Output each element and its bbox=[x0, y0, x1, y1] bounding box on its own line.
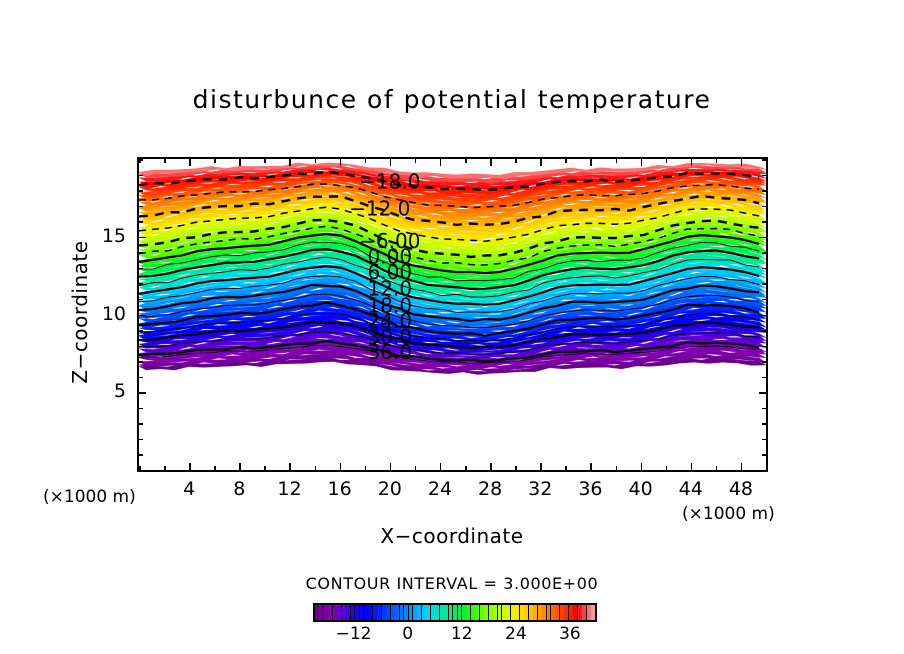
y-tick-6 bbox=[139, 377, 143, 379]
colorbar-cell bbox=[351, 605, 355, 620]
colorbar-cell bbox=[355, 605, 359, 620]
x-tick-top-46 bbox=[716, 159, 718, 163]
y-tick-15 bbox=[139, 237, 146, 239]
y-tick-right-7 bbox=[762, 361, 766, 363]
colorbar-cell bbox=[533, 605, 537, 620]
x-tick-top-20 bbox=[390, 159, 392, 166]
y-tick-right-10 bbox=[759, 315, 766, 317]
x-tick-36 bbox=[590, 463, 592, 470]
y-tick-3 bbox=[139, 423, 143, 425]
x-tick-label-32: 32 bbox=[520, 478, 560, 500]
colorbar-cell bbox=[560, 605, 564, 620]
x-tick-label-28: 28 bbox=[470, 478, 510, 500]
colorbar-tick-label-12: 12 bbox=[439, 624, 485, 644]
x-tick-20 bbox=[390, 463, 392, 470]
colorbar-cell bbox=[333, 605, 337, 620]
x-tick-14 bbox=[315, 466, 317, 470]
x-units-left-label: (×1000 m) bbox=[43, 487, 136, 507]
colorbar-cell bbox=[422, 605, 426, 620]
x-tick-top-36 bbox=[590, 159, 592, 166]
x-tick-top-2 bbox=[164, 159, 166, 163]
y-tick-right-14 bbox=[762, 252, 766, 254]
y-tick-14 bbox=[139, 252, 143, 254]
x-tick-42 bbox=[666, 466, 668, 470]
x-tick-18 bbox=[365, 466, 367, 470]
colorbar-cell bbox=[475, 605, 479, 620]
colorbar-cell bbox=[493, 605, 497, 620]
y-tick-right-2 bbox=[762, 439, 766, 441]
colorbar-cell bbox=[489, 605, 493, 620]
colorbar-cell bbox=[569, 605, 573, 620]
colorbar-cell bbox=[506, 605, 510, 620]
x-tick-top-42 bbox=[666, 159, 668, 163]
plot-area: −18.0−12.0−6.000.006.0012.018.024.030.03… bbox=[137, 157, 768, 472]
colorbar-cell bbox=[426, 605, 430, 620]
x-tick-top-16 bbox=[340, 159, 342, 166]
x-tick-top-50 bbox=[766, 159, 768, 163]
x-tick-46 bbox=[716, 466, 718, 470]
x-tick-top-32 bbox=[540, 159, 542, 166]
colorbar-cell bbox=[484, 605, 488, 620]
colorbar-cell bbox=[515, 605, 519, 620]
x-tick-32 bbox=[540, 463, 542, 470]
colorbar-cell bbox=[578, 605, 582, 620]
x-tick-top-44 bbox=[691, 159, 693, 166]
y-tick-right-19 bbox=[762, 175, 766, 177]
x-tick-2 bbox=[164, 466, 166, 470]
x-tick-24 bbox=[440, 463, 442, 470]
x-tick-label-4: 4 bbox=[169, 478, 209, 500]
colorbar-cell bbox=[524, 605, 528, 620]
colorbar-tick-label-24: 24 bbox=[493, 624, 539, 644]
x-tick-top-22 bbox=[415, 159, 417, 163]
colorbar-tick-label--12: −12 bbox=[331, 624, 377, 644]
y-tick-right-13 bbox=[762, 268, 766, 270]
y-tick-20 bbox=[139, 159, 143, 161]
colorbar-cell bbox=[360, 605, 364, 620]
colorbar-cell bbox=[542, 605, 546, 620]
x-tick-label-48: 48 bbox=[721, 478, 761, 500]
x-tick-16 bbox=[340, 463, 342, 470]
x-tick-34 bbox=[565, 466, 567, 470]
x-tick-44 bbox=[691, 463, 693, 470]
x-tick-label-40: 40 bbox=[621, 478, 661, 500]
y-tick-right-6 bbox=[762, 377, 766, 379]
x-tick-8 bbox=[239, 463, 241, 470]
y-tick-right-1 bbox=[762, 454, 766, 456]
colorbar-cell bbox=[391, 605, 395, 620]
x-tick-4 bbox=[189, 463, 191, 470]
colorbar-cell bbox=[555, 605, 559, 620]
y-tick-9 bbox=[139, 330, 143, 332]
x-tick-top-26 bbox=[465, 159, 467, 163]
x-tick-label-44: 44 bbox=[671, 478, 711, 500]
y-tick-12 bbox=[139, 283, 143, 285]
x-tick-top-28 bbox=[490, 159, 492, 166]
colorbar bbox=[313, 603, 597, 622]
colorbar-cell bbox=[449, 605, 453, 620]
colorbar-cell bbox=[404, 605, 408, 620]
y-tick-4 bbox=[139, 408, 143, 410]
colorbar-cell bbox=[529, 605, 533, 620]
colorbar-cell bbox=[328, 605, 332, 620]
x-tick-40 bbox=[641, 463, 643, 470]
x-tick-label-36: 36 bbox=[570, 478, 610, 500]
colorbar-cell bbox=[409, 605, 413, 620]
contour-interval-caption: CONTOUR INTERVAL = 3.000E+00 bbox=[0, 574, 904, 593]
colorbar-cell bbox=[466, 605, 470, 620]
y-tick-right-11 bbox=[762, 299, 766, 301]
x-axis-title: X−coordinate bbox=[0, 524, 904, 548]
y-tick-right-20 bbox=[762, 159, 766, 161]
colorbar-cell bbox=[520, 605, 524, 620]
x-tick-top-40 bbox=[641, 159, 643, 166]
x-tick-top-4 bbox=[189, 159, 191, 166]
colorbar-cell bbox=[547, 605, 551, 620]
colorbar-cell bbox=[435, 605, 439, 620]
colorbar-cell bbox=[346, 605, 350, 620]
x-tick-label-8: 8 bbox=[219, 478, 259, 500]
y-tick-19 bbox=[139, 175, 143, 177]
colorbar-cell bbox=[364, 605, 368, 620]
x-tick-30 bbox=[515, 466, 517, 470]
colorbar-tick-label-36: 36 bbox=[547, 624, 593, 644]
colorbar-cell bbox=[591, 605, 595, 620]
x-tick-top-12 bbox=[289, 159, 291, 166]
x-tick-38 bbox=[616, 466, 618, 470]
x-tick-label-24: 24 bbox=[420, 478, 460, 500]
y-tick-1 bbox=[139, 454, 143, 456]
y-tick-right-8 bbox=[762, 346, 766, 348]
colorbar-cell bbox=[498, 605, 502, 620]
colorbar-cell bbox=[564, 605, 568, 620]
colorbar-tick-label-0: 0 bbox=[385, 624, 431, 644]
colorbar-cell bbox=[458, 605, 462, 620]
x-tick-top-6 bbox=[214, 159, 216, 163]
colorbar-cell bbox=[373, 605, 377, 620]
page-title: disturbunce of potential temperature bbox=[0, 85, 904, 114]
colorbar-cell bbox=[315, 605, 319, 620]
colorbar-cell bbox=[342, 605, 346, 620]
y-tick-right-3 bbox=[762, 423, 766, 425]
x-tick-top-18 bbox=[365, 159, 367, 163]
x-tick-50 bbox=[766, 466, 768, 470]
colorbar-cell bbox=[551, 605, 555, 620]
colorbar-cell bbox=[377, 605, 381, 620]
y-tick-13 bbox=[139, 268, 143, 270]
x-tick-10 bbox=[264, 466, 266, 470]
colorbar-cell bbox=[453, 605, 457, 620]
y-tick-right-5 bbox=[759, 392, 766, 394]
y-tick-right-12 bbox=[762, 283, 766, 285]
contour-field: −18.0−12.0−6.000.006.0012.018.024.030.03… bbox=[139, 159, 766, 470]
y-tick-17 bbox=[139, 206, 143, 208]
contour-plot-svg: −18.0−12.0−6.000.006.0012.018.024.030.03… bbox=[139, 159, 766, 470]
x-tick-label-16: 16 bbox=[320, 478, 360, 500]
y-tick-right-18 bbox=[762, 190, 766, 192]
figure-canvas: disturbunce of potential temperature Z−c… bbox=[0, 0, 904, 654]
x-tick-top-10 bbox=[264, 159, 266, 163]
colorbar-cell bbox=[382, 605, 386, 620]
colorbar-cell bbox=[386, 605, 390, 620]
y-tick-right-9 bbox=[762, 330, 766, 332]
x-tick-top-8 bbox=[239, 159, 241, 166]
contour-label: −12.0 bbox=[349, 197, 410, 221]
colorbar-cell bbox=[337, 605, 341, 620]
colorbar-cell bbox=[502, 605, 506, 620]
y-tick-16 bbox=[139, 221, 143, 223]
colorbar-cell bbox=[395, 605, 399, 620]
x-tick-label-20: 20 bbox=[370, 478, 410, 500]
contour-label: 36.0 bbox=[368, 340, 413, 364]
x-tick-48 bbox=[741, 463, 743, 470]
y-tick-label-15: 15 bbox=[84, 225, 126, 247]
colorbar-cell bbox=[587, 605, 591, 620]
y-tick-0 bbox=[139, 470, 143, 472]
y-tick-right-4 bbox=[762, 408, 766, 410]
y-tick-right-15 bbox=[759, 237, 766, 239]
colorbar-cell bbox=[582, 605, 586, 620]
x-tick-26 bbox=[465, 466, 467, 470]
x-tick-label-12: 12 bbox=[269, 478, 309, 500]
colorbar-cell bbox=[368, 605, 372, 620]
colorbar-cell bbox=[431, 605, 435, 620]
y-tick-label-5: 5 bbox=[84, 380, 126, 402]
contour-label: −18.0 bbox=[359, 169, 420, 193]
colorbar-cell bbox=[462, 605, 466, 620]
colorbar-cell bbox=[319, 605, 323, 620]
x-tick-22 bbox=[415, 466, 417, 470]
y-tick-right-16 bbox=[762, 221, 766, 223]
colorbar-cell bbox=[511, 605, 515, 620]
colorbar-tick-labels: −120122436 bbox=[313, 624, 597, 648]
colorbar-cell bbox=[440, 605, 444, 620]
y-tick-7 bbox=[139, 361, 143, 363]
x-tick-top-48 bbox=[741, 159, 743, 166]
y-tick-right-17 bbox=[762, 206, 766, 208]
x-units-right-label: (×1000 m) bbox=[682, 504, 775, 524]
x-tick-6 bbox=[214, 466, 216, 470]
y-tick-2 bbox=[139, 439, 143, 441]
colorbar-cell bbox=[417, 605, 421, 620]
y-tick-8 bbox=[139, 346, 143, 348]
y-tick-5 bbox=[139, 392, 146, 394]
colorbar-cell bbox=[324, 605, 328, 620]
y-tick-right-0 bbox=[762, 470, 766, 472]
y-tick-10 bbox=[139, 315, 146, 317]
y-tick-18 bbox=[139, 190, 143, 192]
colorbar-cell bbox=[480, 605, 484, 620]
x-tick-top-38 bbox=[616, 159, 618, 163]
colorbar-cell bbox=[538, 605, 542, 620]
x-tick-12 bbox=[289, 463, 291, 470]
x-tick-top-30 bbox=[515, 159, 517, 163]
x-tick-28 bbox=[490, 463, 492, 470]
colorbar-cell bbox=[413, 605, 417, 620]
colorbar-cell bbox=[444, 605, 448, 620]
y-tick-11 bbox=[139, 299, 143, 301]
colorbar-cell bbox=[471, 605, 475, 620]
x-tick-top-24 bbox=[440, 159, 442, 166]
colorbar-cell bbox=[400, 605, 404, 620]
colorbar-cell bbox=[573, 605, 577, 620]
x-tick-top-34 bbox=[565, 159, 567, 163]
y-tick-label-10: 10 bbox=[84, 303, 126, 325]
x-tick-top-14 bbox=[315, 159, 317, 163]
